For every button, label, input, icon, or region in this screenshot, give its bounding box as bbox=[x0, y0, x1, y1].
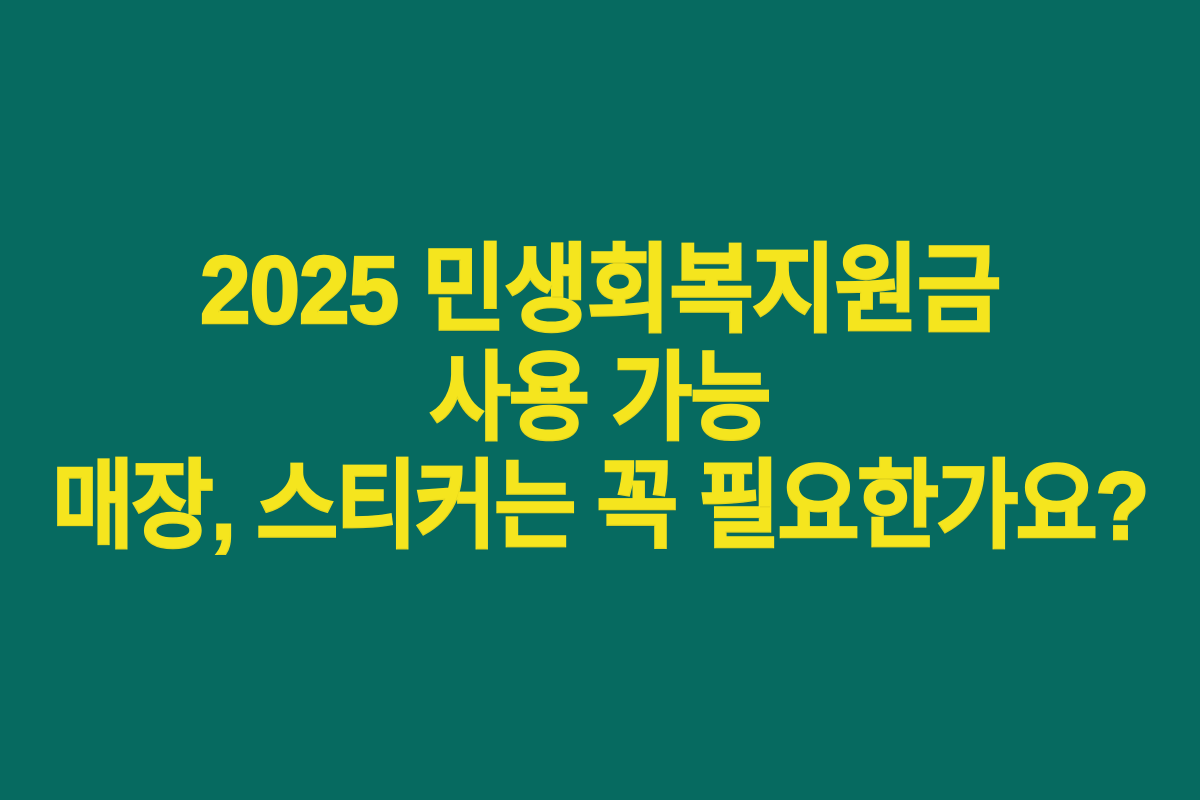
headline-block: 2025 민생회복지원금 사용 가능 매장, 스티커는 꼭 필요한가요? bbox=[0, 239, 1200, 559]
headline-line-1: 2025 민생회복지원금 bbox=[32, 239, 1169, 343]
headline-line-2: 사용 가능 bbox=[55, 347, 1145, 451]
headline-line-3: 매장, 스티커는 꼭 필요한가요? bbox=[48, 455, 1153, 559]
thumbnail-card: 2025 민생회복지원금 사용 가능 매장, 스티커는 꼭 필요한가요? bbox=[0, 0, 1200, 800]
